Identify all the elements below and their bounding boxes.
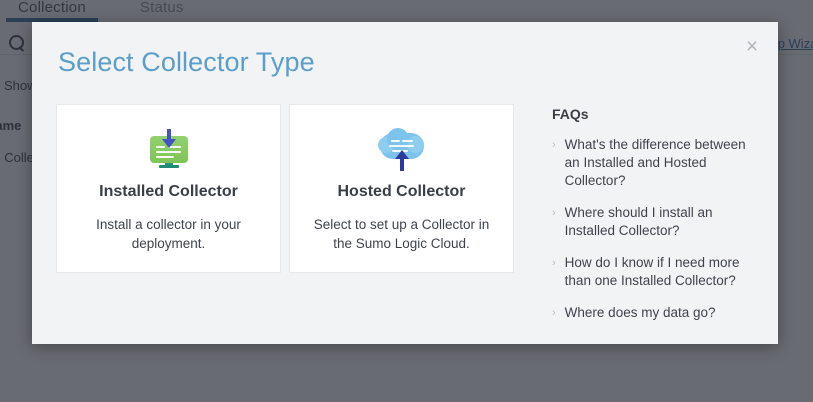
faq-item-label: What's the difference between an Install… <box>565 136 756 190</box>
card-hosted-collector[interactable]: Hosted Collector Select to set up a Coll… <box>289 104 514 273</box>
card-title: Hosted Collector <box>337 183 465 201</box>
faq-heading: FAQs <box>552 106 756 122</box>
chevron-right-icon: › <box>552 304 556 322</box>
select-collector-type-dialog: × Select Collector Type <box>32 22 778 344</box>
card-description: Select to set up a Collector in the Sumo… <box>312 215 492 253</box>
dialog-title: Select Collector Type <box>58 47 315 78</box>
chevron-right-icon: › <box>552 136 556 190</box>
card-title: Installed Collector <box>99 183 238 201</box>
faq-item[interactable]: › Where does my data go? <box>552 304 756 322</box>
dialog-body: Installed Collector Install a collector … <box>56 104 756 344</box>
chevron-right-icon: › <box>552 254 556 290</box>
installed-collector-monitor-icon <box>141 127 197 173</box>
faq-section: FAQs › What's the difference between an … <box>552 104 756 344</box>
faq-item[interactable]: › What's the difference between an Insta… <box>552 136 756 190</box>
card-installed-collector[interactable]: Installed Collector Install a collector … <box>56 104 281 273</box>
faq-item-label: Where should I install an Installed Coll… <box>565 204 756 240</box>
page-root: Collection Status Search Show: All Name … <box>0 0 813 402</box>
hosted-collector-cloud-icon <box>374 127 430 173</box>
chevron-right-icon: › <box>552 204 556 240</box>
faq-item[interactable]: › How do I know if I need more than one … <box>552 254 756 290</box>
collector-type-cards: Installed Collector Install a collector … <box>56 104 514 344</box>
card-description: Install a collector in your deployment. <box>79 215 259 253</box>
faq-item-label: Where does my data go? <box>565 304 716 322</box>
close-icon[interactable]: × <box>739 34 765 60</box>
faq-item-label: How do I know if I need more than one In… <box>565 254 756 290</box>
faq-item[interactable]: › Where should I install an Installed Co… <box>552 204 756 240</box>
